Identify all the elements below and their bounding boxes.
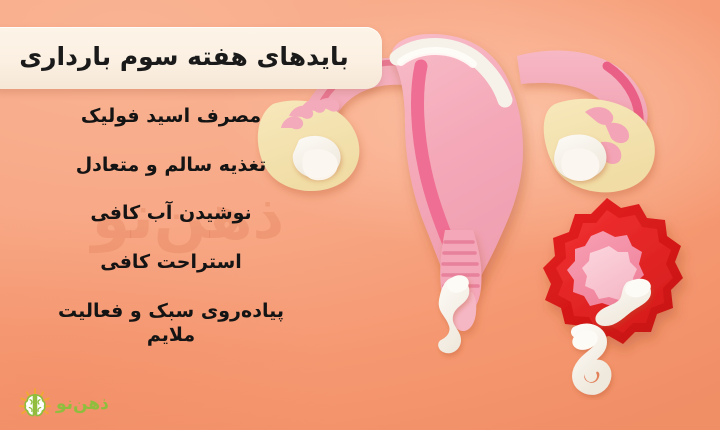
ovum-nucleus	[582, 246, 637, 300]
recommendation-list: مصرف اسید فولیک تغذیه سالم و متعادل نوشی…	[6, 104, 336, 348]
list-item: نوشیدن آب کافی	[6, 201, 336, 226]
list-item: تغذیه سالم و متعادل	[6, 153, 336, 178]
list-item: استراحت کافی	[6, 250, 336, 275]
ovum-layer-mid	[567, 231, 644, 307]
sperm-lower-right	[570, 327, 606, 389]
sperm-center	[438, 273, 471, 354]
ovum-flower	[543, 198, 683, 344]
ovary-right	[544, 99, 655, 193]
brand-name: ذهن‌نو	[56, 394, 109, 414]
brand-logo[interactable]: ذهن‌نو	[18, 386, 109, 422]
infographic-canvas: ذهن‌نو	[0, 0, 720, 430]
sperm-mid-right	[595, 276, 652, 326]
uterus-body	[392, 34, 523, 284]
list-item: پیاده‌روی سبک و فعالیت ملایم	[6, 299, 336, 348]
brain-icon	[18, 387, 52, 421]
list-item: مصرف اسید فولیک	[6, 104, 336, 129]
fallopian-tube-right	[517, 51, 648, 138]
page-title: بایدهای هفته سوم بارداری	[19, 42, 349, 74]
title-plaque: بایدهای هفته سوم بارداری	[0, 27, 382, 89]
cervix-vagina	[440, 230, 481, 331]
